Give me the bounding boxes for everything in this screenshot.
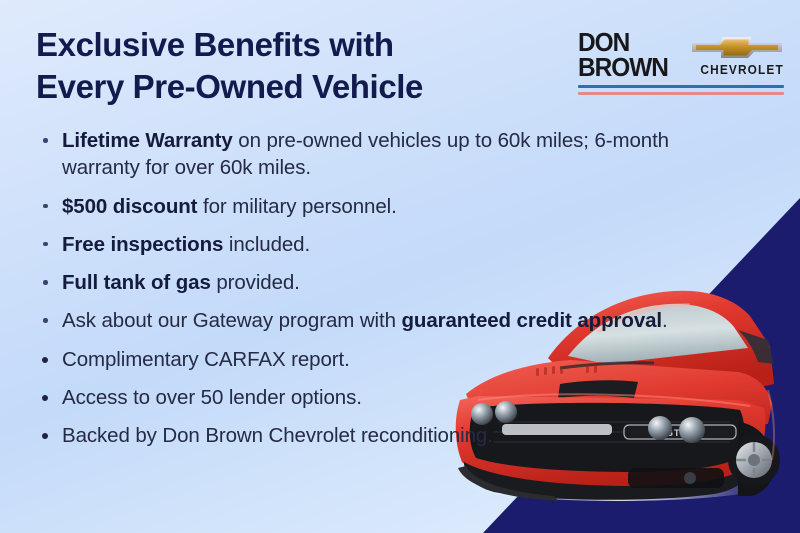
bullet-bold-text: guaranteed credit approval (401, 309, 662, 332)
bullet-bold-text: Full tank of gas (62, 271, 211, 294)
bullet-dot-icon (43, 138, 48, 143)
headline-line-2: Every Pre-Owned Vehicle (36, 66, 546, 108)
list-item: Backed by Don Brown Chevrolet reconditio… (36, 422, 708, 449)
bullet-text: included. (223, 233, 310, 256)
bullet-text: provided. (211, 271, 300, 294)
logo-stripe-blue (578, 85, 784, 88)
benefits-list: Lifetime Warranty on pre-owned vehicles … (36, 127, 716, 460)
bullet-dot-icon (42, 395, 48, 401)
bullet-text-tail: . (662, 309, 668, 332)
bullet-text: for military personnel. (197, 195, 396, 218)
logo-text-brown: BROWN (578, 55, 668, 80)
bullet-dot-icon (42, 433, 48, 439)
bullet-text: Ask about our Gateway program with (62, 309, 401, 332)
bullet-dot-icon (43, 204, 48, 209)
bullet-text: Access to over 50 lender options. (62, 386, 362, 409)
list-item: $500 discount for military personnel. (36, 193, 708, 220)
page-title: Exclusive Benefits with Every Pre-Owned … (36, 24, 546, 108)
dealer-logo[interactable]: DON BROWN (578, 30, 784, 95)
bullet-bold-text: Lifetime Warranty (62, 129, 233, 152)
bullet-dot-icon (42, 357, 48, 363)
bullet-bold-text: Free inspections (62, 233, 223, 256)
list-item: Ask about our Gateway program with guara… (36, 307, 708, 334)
logo-stripes (578, 85, 784, 95)
list-item: Full tank of gas provided. (36, 269, 708, 296)
bullet-dot-icon (43, 242, 48, 247)
bullet-text: Backed by Don Brown Chevrolet reconditio… (62, 424, 493, 447)
logo-text-chevrolet: CHEVROLET (701, 63, 784, 77)
chevrolet-bowtie-icon (690, 34, 784, 61)
logo-stripe-red (578, 92, 784, 95)
list-item: Complimentary CARFAX report. (36, 346, 708, 373)
bullet-bold-text: $500 discount (62, 195, 197, 218)
bullet-text: Complimentary CARFAX report. (62, 348, 350, 371)
list-item: Free inspections included. (36, 231, 708, 258)
bullet-dot-icon (43, 318, 48, 323)
headline-line-1: Exclusive Benefits with (36, 26, 394, 63)
list-item: Lifetime Warranty on pre-owned vehicles … (36, 127, 708, 182)
bullet-dot-icon (43, 280, 48, 285)
list-item: Access to over 50 lender options. (36, 384, 708, 411)
promo-card: GT (0, 0, 800, 533)
